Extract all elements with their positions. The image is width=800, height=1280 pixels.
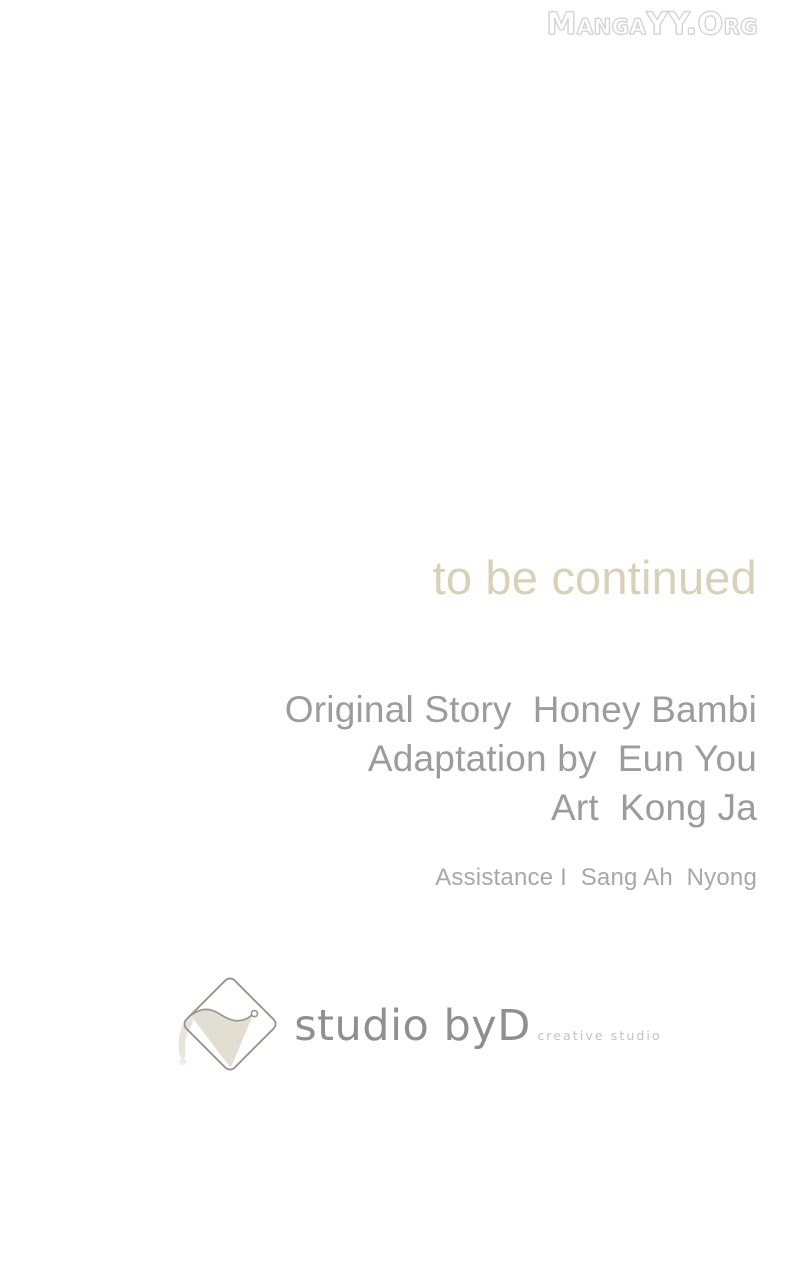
end-card-credits-block: to be continued Original Story Honey Bam… <box>0 552 757 893</box>
credit-line-assistance: Assistance I Sang Ah Nyong <box>0 862 757 893</box>
studio-logo: studio byD creative studio <box>0 968 800 1080</box>
studio-logo-wordmark: studio byD creative studio <box>294 1005 661 1048</box>
studio-logo-name: studio byD <box>294 1001 531 1051</box>
credit-lines-group: Original Story Honey Bambi Adaptation by… <box>0 685 757 833</box>
studio-logo-tagline: creative studio <box>537 1028 661 1043</box>
credit-line-original-story: Original Story Honey Bambi <box>0 685 757 734</box>
diamond-brush-logo-icon <box>174 968 286 1080</box>
credit-line-adaptation: Adaptation by Eun You <box>0 734 757 783</box>
site-watermark: MangaYY.Org <box>547 6 758 44</box>
to-be-continued-text: to be continued <box>0 552 757 605</box>
studio-logo-mark-wrap <box>174 968 286 1080</box>
credit-line-art: Art Kong Ja <box>0 783 757 832</box>
